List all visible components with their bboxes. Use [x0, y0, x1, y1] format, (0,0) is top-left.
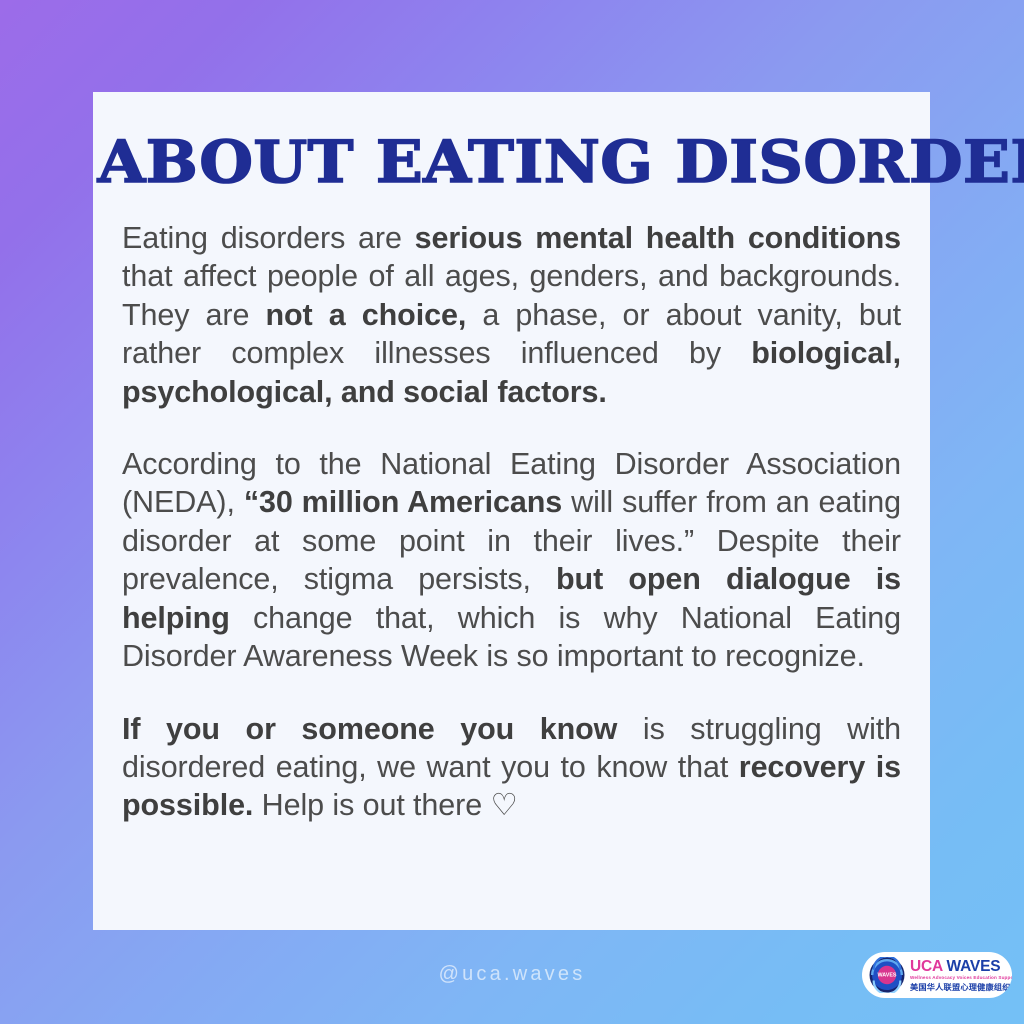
paragraph-3-run-1: If you or someone you know — [122, 712, 617, 746]
page-title: ABOUT EATING DISORDERS — [98, 132, 926, 193]
paragraph-1-run-4: not a choice, — [266, 298, 467, 332]
paragraph-2-run-2: “30 million Americans — [244, 485, 562, 519]
logo-title: UCA WAVES — [910, 959, 1005, 975]
logo-title-uca: UCA — [910, 958, 947, 975]
poster-canvas: ABOUT EATING DISORDERS Eating disorders … — [0, 0, 1024, 1024]
emblem-label: WAVES — [877, 973, 896, 979]
paragraph-1: Eating disorders are serious mental heal… — [122, 219, 901, 411]
content-card: ABOUT EATING DISORDERS Eating disorders … — [93, 92, 930, 930]
logo-chinese-name: 美国华人联盟心理健康组织 — [910, 983, 1005, 991]
body-copy: Eating disorders are serious mental heal… — [121, 219, 902, 825]
logo-title-waves: WAVES — [947, 958, 1001, 975]
paragraph-3: If you or someone you know is struggling… — [122, 710, 901, 825]
waves-emblem-icon: WAVES — [869, 957, 905, 993]
paragraph-2: According to the National Eating Disorde… — [122, 445, 901, 676]
paragraph-1-run-1: Eating disorders are — [122, 221, 415, 255]
paragraph-3-run-4: Help is out there ♡ — [253, 788, 517, 822]
paragraph-2-run-5: change that, which is why National Eatin… — [122, 601, 901, 673]
logo-badge: WAVES UCA WAVES Wellness Advocacy Voices… — [862, 952, 1012, 998]
logo-tagline: Wellness Advocacy Voices Education Suppo… — [910, 976, 1005, 981]
paragraph-1-run-2: serious mental health conditions — [415, 221, 901, 255]
logo-text-block: UCA WAVES Wellness Advocacy Voices Educa… — [910, 959, 1005, 991]
